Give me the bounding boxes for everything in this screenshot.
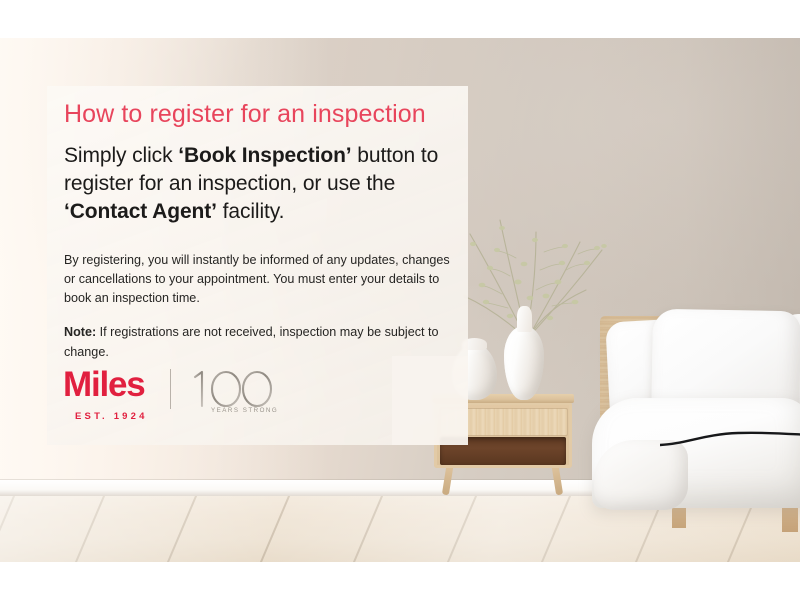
- miles-logo-lockup: Miles EST. 1924: [63, 367, 283, 433]
- registration-paragraph: By registering, you will instantly be in…: [64, 251, 454, 308]
- note-text: If registrations are not received, inspe…: [64, 325, 439, 358]
- established-text: EST. 1924: [75, 411, 148, 422]
- info-card-content: How to register for an inspection Simply…: [47, 86, 468, 445]
- duvet-fold: [594, 440, 688, 510]
- book-inspection-emphasis: ‘Book Inspection’: [178, 144, 351, 167]
- lede-text: Simply click ‘Book Inspection’ button to…: [64, 142, 458, 226]
- brand-wordmark: Miles: [63, 367, 145, 402]
- body-copy: By registering, you will instantly be in…: [64, 251, 454, 362]
- letterbox-top: [0, 0, 800, 38]
- lede-line3-suffix: facility.: [217, 200, 284, 223]
- image-canvas: How to register for an inspection Simply…: [0, 0, 800, 600]
- nightstand-leg: [442, 467, 453, 496]
- logo-divider: [170, 369, 171, 409]
- anniversary-tagline-text: YEARS STRONG: [211, 407, 278, 414]
- dried-branches: [440, 198, 630, 338]
- lede-line1-prefix: Simply click: [64, 144, 178, 167]
- note-label: Note:: [64, 325, 96, 339]
- lede-line1-suffix: button: [352, 144, 416, 167]
- page-title: How to register for an inspection: [64, 101, 426, 129]
- note-paragraph: Note: If registrations are not received,…: [64, 323, 454, 361]
- contact-agent-emphasis: ‘Contact Agent’: [64, 200, 217, 223]
- letterbox-bottom: [0, 562, 800, 600]
- info-card: How to register for an inspection Simply…: [47, 86, 468, 445]
- nightstand-leg: [552, 467, 563, 496]
- anniversary-emblem-icon: YEARS STRONG: [181, 365, 281, 415]
- duvet-trim-stripe: [660, 430, 800, 448]
